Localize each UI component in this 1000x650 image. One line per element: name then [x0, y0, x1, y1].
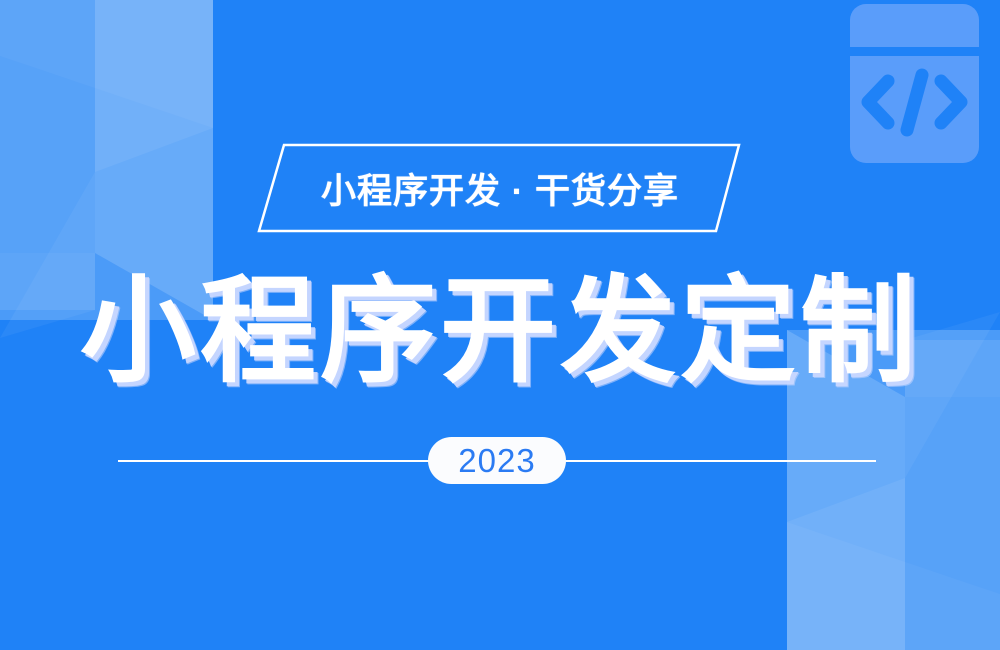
- poster-canvas: 小程序开发 · 干货分享 小程序开发定制 2023: [0, 0, 1000, 650]
- subtitle-banner: 小程序开发 · 干货分享: [255, 142, 745, 234]
- subtitle-text: 小程序开发 · 干货分享: [255, 142, 745, 234]
- divider-line-left: [118, 460, 430, 462]
- page-title: 小程序开发定制: [0, 268, 1000, 394]
- year-badge: 2023: [428, 437, 566, 484]
- divider-line-right: [564, 460, 876, 462]
- code-window-icon: [836, 4, 993, 163]
